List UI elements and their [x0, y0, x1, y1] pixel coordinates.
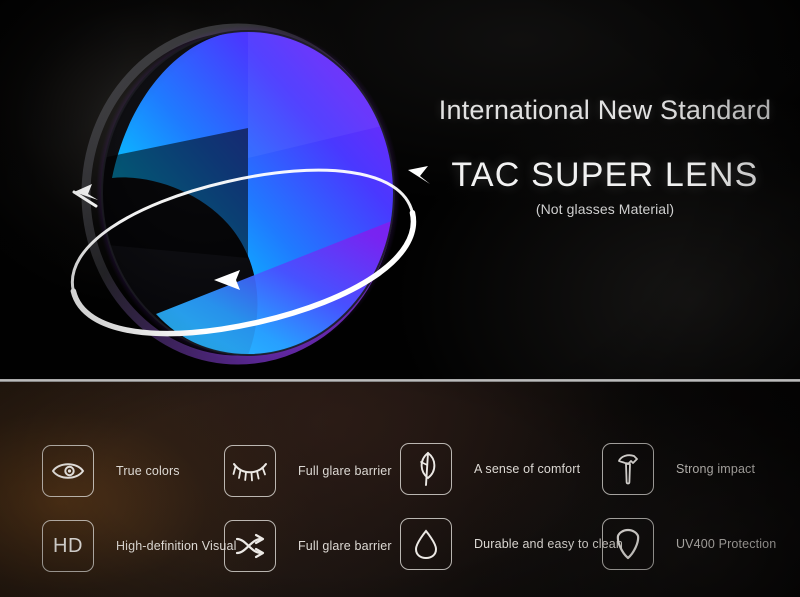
feature-label: Full glare barrier	[298, 539, 392, 553]
feature-uv400-protection: UV400 Protection	[602, 518, 776, 570]
feature-full-glare-barrier-1: Full glare barrier	[224, 445, 392, 497]
eye-icon	[42, 445, 94, 497]
feature-full-glare-barrier-2: Full glare barrier	[224, 520, 392, 572]
feature-label: High-definition Visual	[116, 539, 237, 553]
shuffle-arrows-icon	[224, 520, 276, 572]
lens-graphic	[52, 8, 432, 378]
feature-label: UV400 Protection	[676, 537, 776, 551]
shield-icon	[602, 518, 654, 570]
hd-text-icon: HD	[42, 520, 94, 572]
feature-true-colors: True colors	[42, 445, 180, 497]
feature-high-definition-visual: HD High-definition Visual	[42, 520, 237, 572]
hero-text-block: International New Standard TAC SUPER LEN…	[420, 96, 790, 217]
feature-strong-impact: Strong impact	[602, 443, 755, 495]
product-subtitle: (Not glasses Material)	[420, 201, 790, 217]
product-title: TAC SUPER LENS	[420, 158, 790, 194]
water-drop-icon	[400, 518, 452, 570]
feature-durable-easy-clean: Durable and easy to clean	[400, 518, 623, 570]
features-section: True colors Full glare barrier	[0, 382, 800, 597]
feature-label: Full glare barrier	[298, 464, 392, 478]
feature-label: Durable and easy to clean	[474, 537, 623, 551]
feature-sense-of-comfort: A sense of comfort	[400, 443, 580, 495]
feather-icon	[400, 443, 452, 495]
hero-section: International New Standard TAC SUPER LEN…	[0, 0, 800, 381]
feature-label: Strong impact	[676, 462, 755, 476]
promo-banner: International New Standard TAC SUPER LEN…	[0, 0, 800, 597]
hero-heading: International New Standard	[420, 96, 790, 126]
closed-eye-lashes-icon	[224, 445, 276, 497]
feature-label: A sense of comfort	[474, 462, 580, 476]
feature-label: True colors	[116, 464, 180, 478]
hammer-icon	[602, 443, 654, 495]
hd-label: HD	[53, 535, 83, 558]
